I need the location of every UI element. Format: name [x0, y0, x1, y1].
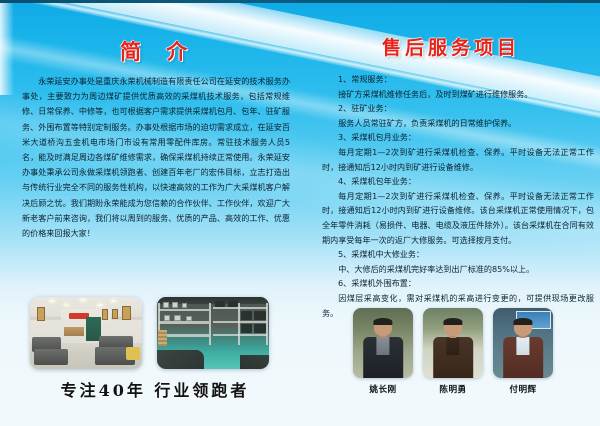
- staff-name: 姚长刚: [353, 383, 413, 395]
- office-showroom-photo: [30, 297, 142, 369]
- stacked-part: [228, 301, 238, 307]
- parts-box: [174, 315, 181, 321]
- service-item-title: 4、采煤机包年业务：: [322, 174, 594, 189]
- staff-card: 付明辉: [493, 308, 553, 395]
- service-item-title: 1、常规服务：: [322, 72, 594, 87]
- storage-shelf: [213, 321, 267, 323]
- ceiling-light: [97, 304, 103, 306]
- staff-card: 姚长刚: [353, 308, 413, 395]
- office-scene: [30, 297, 142, 369]
- office-door: [86, 317, 101, 341]
- stacked-part: [254, 311, 265, 320]
- shelf-post: [209, 303, 211, 345]
- parts-warehouse-photo: [157, 297, 269, 369]
- service-item: 4、采煤机包年业务： 每月定期1—2次到矿进行采煤机检查、保养。平时设备无法正常…: [322, 174, 594, 247]
- portrait-hair: [513, 318, 532, 326]
- storage-shelf: [213, 334, 267, 336]
- ceiling-light: [64, 304, 70, 306]
- section-title-after-sales-service: 售后服务项目: [382, 33, 520, 60]
- service-item: 1、常规服务： 接矿方采煤机维修任务后，及时到煤矿进行维修服务。: [322, 72, 594, 101]
- service-item-body: 中、大修后的采煤机完好率达到出厂标准的85%以上。: [322, 262, 594, 277]
- parts-box: [186, 316, 192, 321]
- service-item-title: 5、采煤机中大修业务：: [322, 247, 594, 262]
- portrait-shirt: [446, 337, 459, 355]
- top-rule: [0, 0, 600, 3]
- service-item-title: 6、采煤机外围布置：: [322, 276, 594, 291]
- parts-box: [164, 315, 171, 321]
- stacked-part: [241, 311, 252, 320]
- service-item-title: 2、驻矿业务：: [322, 101, 594, 116]
- portrait-hair: [373, 318, 392, 326]
- yellow-cushion: [126, 347, 139, 359]
- wall-frame: [37, 307, 45, 321]
- section-title-introduction: 简 介: [120, 36, 196, 66]
- left-edge-highlight: [0, 0, 14, 95]
- service-item-body: 服务人员常驻矿方，负责采煤机的日常维护保养。: [322, 116, 594, 131]
- service-item: 3、采煤机包月业务： 每月定期1—2次到矿进行采煤机检查、保养。平时设备无法正常…: [322, 130, 594, 174]
- parts-box: [163, 302, 170, 308]
- company-slogan: 专注40年 行业领跑者: [30, 377, 280, 401]
- warehouse-scene: [157, 297, 269, 369]
- office-desk: [64, 327, 84, 336]
- introduction-paragraph: 永荣延安办事处是重庆永荣机械制造有限责任公司在延安的技术服务办事处，主要致力为周…: [22, 74, 290, 241]
- wall-frame: [102, 309, 109, 321]
- stacked-part: [241, 324, 252, 333]
- wall-frame: [122, 306, 131, 320]
- parts-box: [172, 302, 179, 308]
- service-item-title: 3、采煤机包月业务：: [322, 130, 594, 145]
- staff-name: 陈明勇: [423, 383, 483, 395]
- service-item: 5、采煤机中大修业务： 中、大修后的采煤机完好率达到出厂标准的85%以上。: [322, 247, 594, 276]
- staff-name: 付明辉: [493, 383, 553, 395]
- staff-card: 陈明勇: [423, 308, 483, 395]
- service-item: 2、驻矿业务： 服务人员常驻矿方，负责采煤机的日常维护保养。: [322, 101, 594, 130]
- floor-parts-pile: [240, 355, 269, 369]
- parts-box: [182, 303, 188, 308]
- staff-portrait-photo: [353, 308, 413, 378]
- staff-portrait-photo: [493, 308, 553, 378]
- portrait-hair: [443, 318, 462, 326]
- portrait-shirt: [516, 337, 529, 355]
- introduction-column: 永荣延安办事处是重庆永荣机械制造有限责任公司在延安的技术服务办事处，主要致力为周…: [22, 74, 290, 241]
- brochure-page: 简 介 售后服务项目 永荣延安办事处是重庆永荣机械制造有限责任公司在延安的技术服…: [0, 0, 600, 426]
- storage-shelf: [213, 307, 267, 309]
- ceiling-light: [80, 299, 86, 301]
- service-item-body: 每月定期1—2次到矿进行采煤机检查、保养。平时设备无法正常工作时，接通知后12小…: [322, 189, 594, 247]
- ceiling-light: [111, 300, 117, 302]
- storage-shelf: [159, 309, 208, 311]
- service-item-body: 接矿方采煤机维修任务后，及时到煤矿进行维修服务。: [322, 87, 594, 102]
- stacked-part: [215, 301, 225, 307]
- staff-portrait-photo: [423, 308, 483, 378]
- portrait-shirt: [376, 337, 389, 355]
- service-item-body: 每月定期1—2次到矿进行采煤机检查、保养。平时设备无法正常工作时，接通知后12小…: [322, 145, 594, 174]
- ceiling-light: [49, 300, 55, 302]
- storage-shelf: [159, 321, 208, 323]
- wooden-pallet: [158, 330, 167, 346]
- floor-parts-pile: [157, 350, 204, 369]
- office-sofa: [34, 349, 68, 365]
- stacked-part: [254, 324, 265, 333]
- wall-frame: [112, 309, 119, 318]
- service-list-column: 1、常规服务： 接矿方采煤机维修任务后，及时到煤矿进行维修服务。 2、驻矿业务：…: [322, 72, 594, 320]
